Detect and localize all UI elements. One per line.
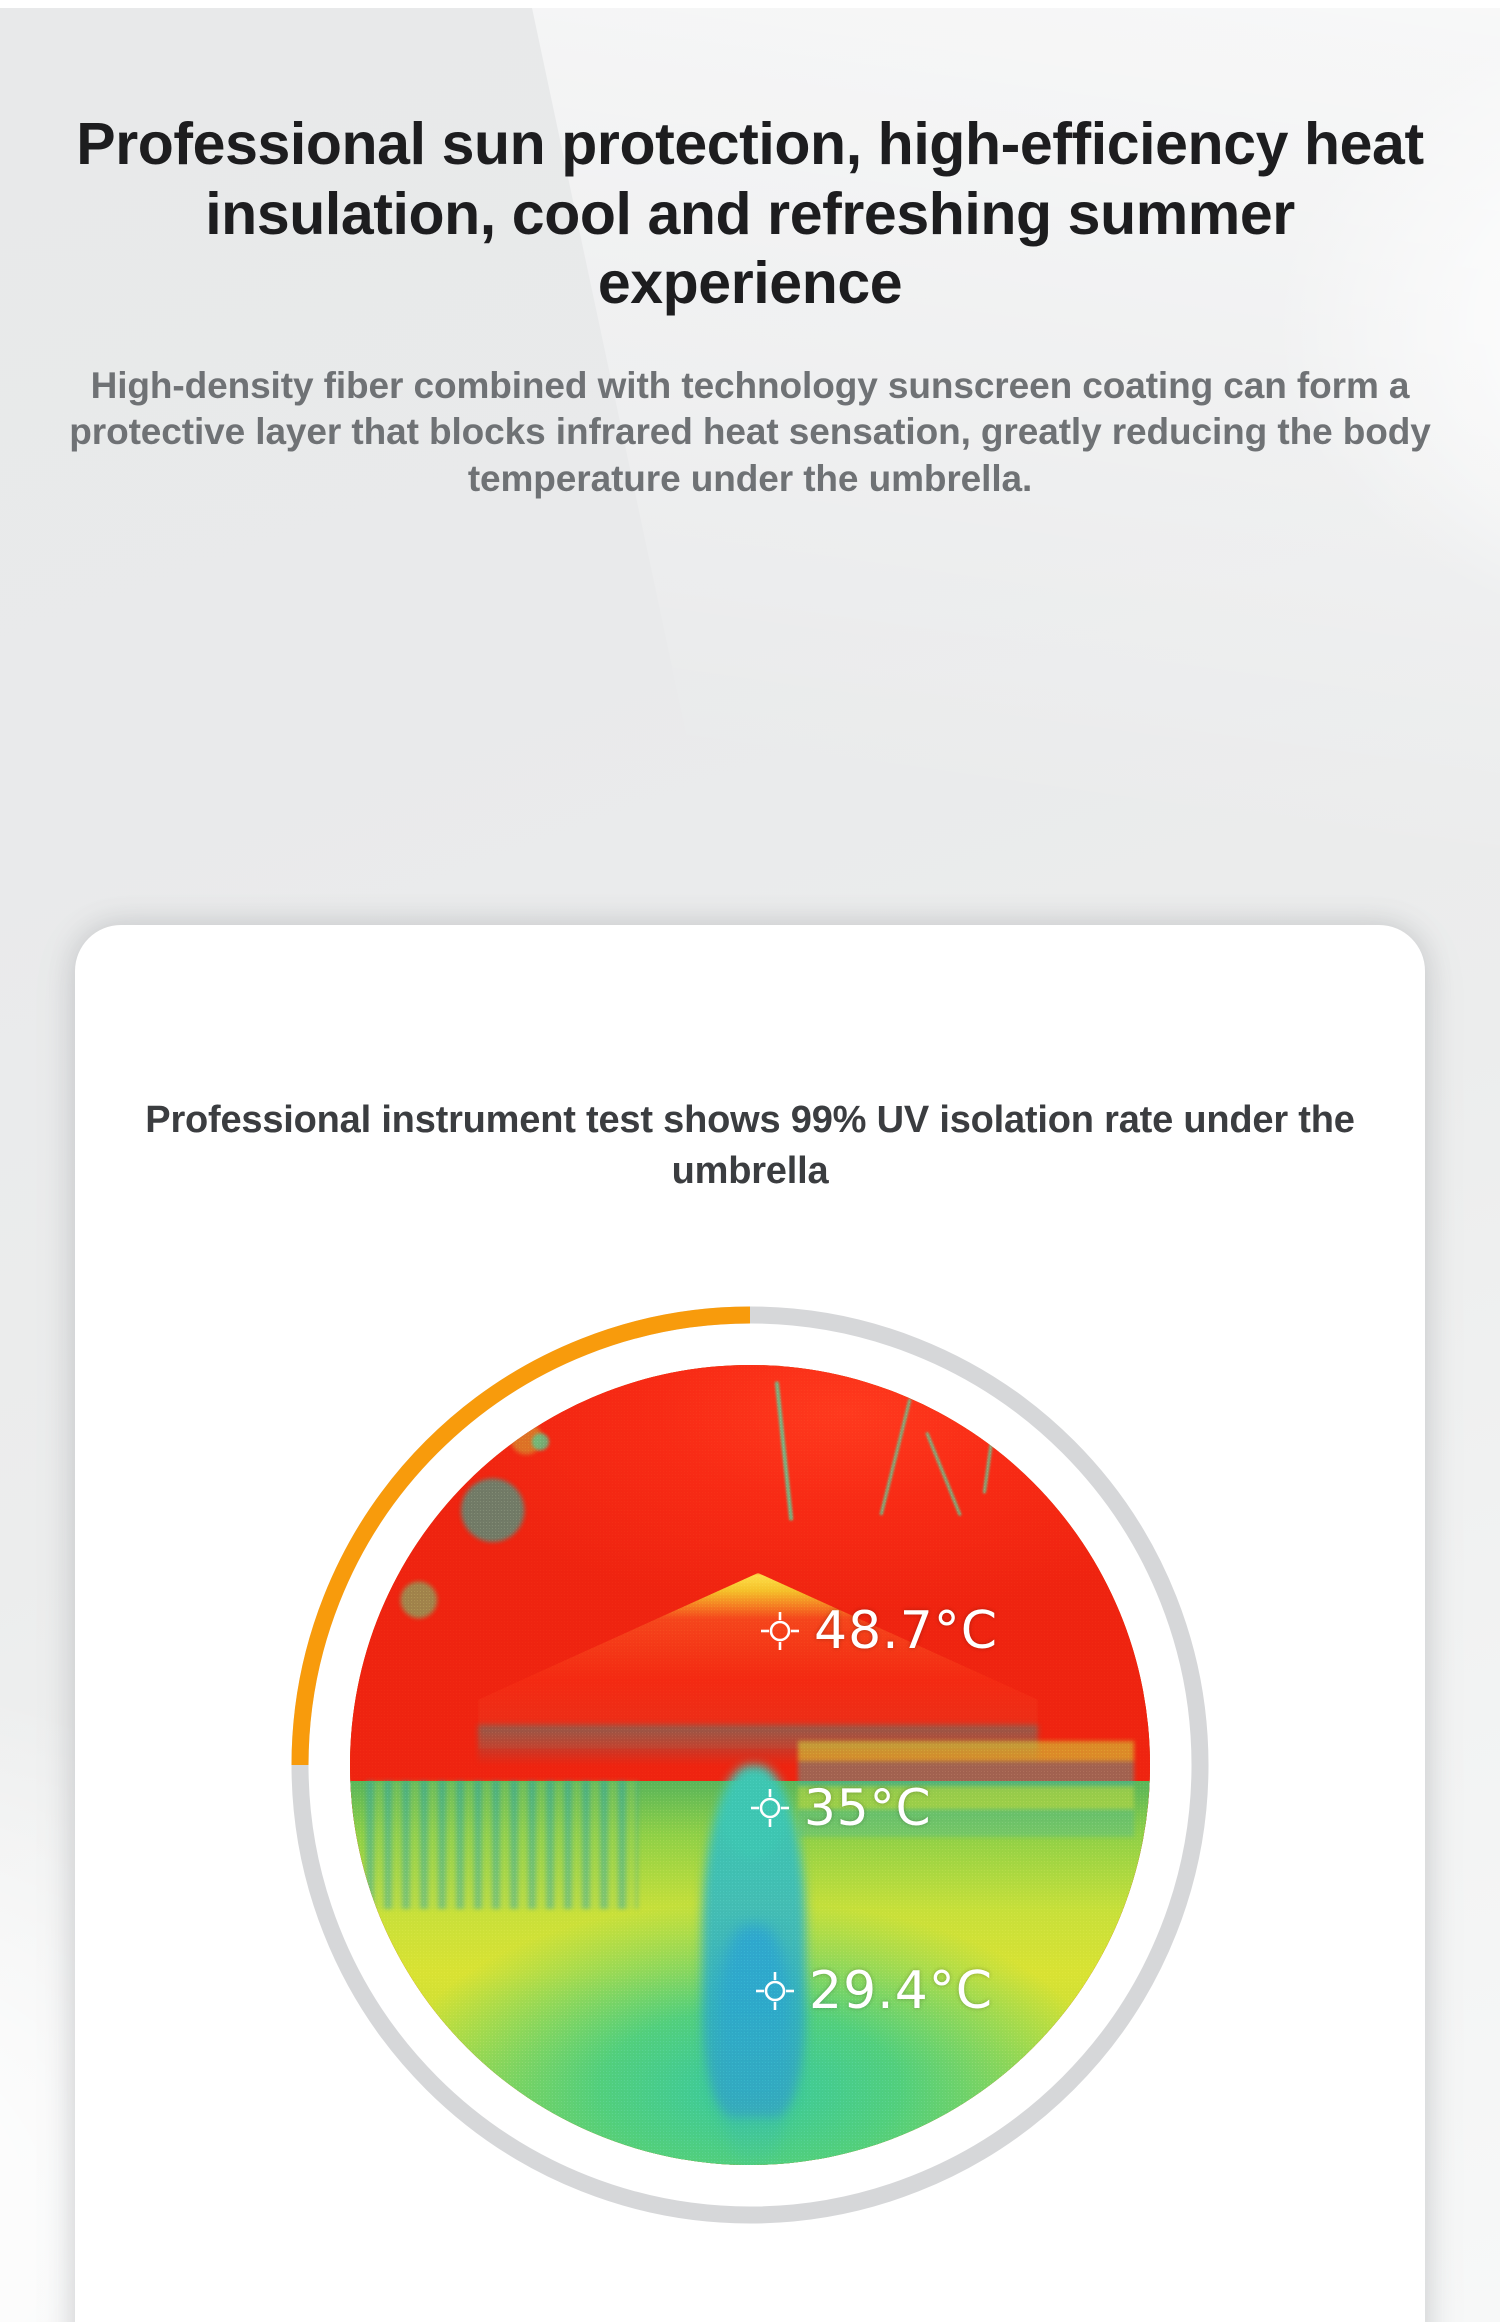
crosshair-icon (750, 1788, 790, 1828)
crosshair-icon (755, 1971, 795, 2011)
temperature-readout-3: 29.4°C (755, 1965, 993, 2017)
thermal-image: 48.7°C 35°C (350, 1365, 1150, 2165)
uv-isolation-gauge: 48.7°C 35°C (265, 1280, 1235, 2250)
product-card: Professional instrument test shows 99% U… (75, 925, 1425, 2322)
card-heading: Professional instrument test shows 99% U… (75, 1095, 1425, 1198)
hero-section: Professional sun protection, high-effici… (0, 110, 1500, 503)
hero-subtitle: High-density fiber combined with technol… (0, 363, 1500, 503)
temperature-readout-1: 48.7°C (760, 1605, 998, 1657)
crosshair-icon (760, 1611, 800, 1651)
temperature-readout-2: 35°C (750, 1783, 932, 1833)
page-title: Professional sun protection, high-effici… (0, 110, 1500, 319)
temperature-value-1: 48.7°C (814, 1605, 998, 1657)
thermal-noise-texture (350, 1365, 1150, 2165)
temperature-value-2: 35°C (804, 1783, 932, 1833)
page-background: Professional sun protection, high-effici… (0, 0, 1500, 2322)
temperature-value-3: 29.4°C (809, 1965, 993, 2017)
